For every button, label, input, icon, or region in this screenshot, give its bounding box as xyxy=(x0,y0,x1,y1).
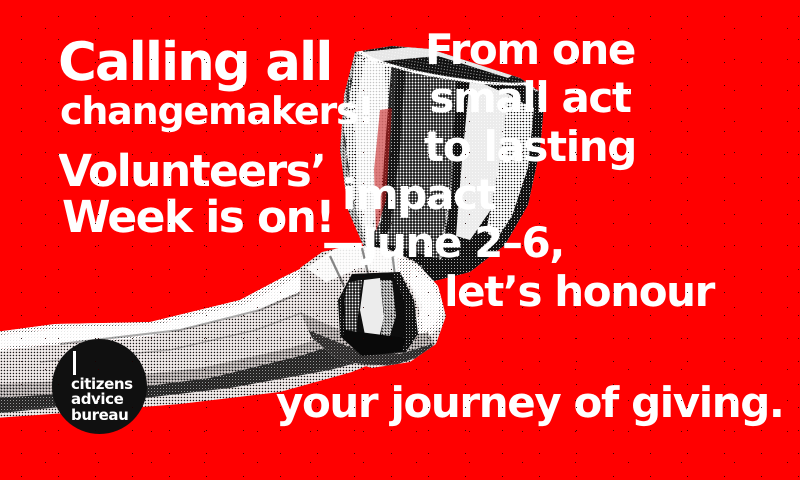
headline-right-line-3: to lasting xyxy=(320,127,740,167)
headline-right-line-2: small act xyxy=(320,78,740,118)
logo-bar-mark xyxy=(73,351,76,375)
poster-canvas: Calling all changemakers! Volunteers’ We… xyxy=(0,0,800,480)
headline-right-column: From one small act to lasting impact —Ju… xyxy=(320,30,740,318)
citizens-advice-bureau-logo: citizens advice bureau xyxy=(52,339,147,434)
headline-bottom-line: your journey of giving. xyxy=(276,383,783,423)
headline-right-line-5: —June 2–6, xyxy=(320,223,740,263)
logo-line-3: bureau xyxy=(71,408,133,423)
headline-right-line-1: From one xyxy=(320,30,740,70)
headline-right-line-4: impact xyxy=(320,175,740,215)
logo-wordmark: citizens advice bureau xyxy=(71,377,133,423)
headline-right-line-6: let’s honour xyxy=(320,272,740,312)
